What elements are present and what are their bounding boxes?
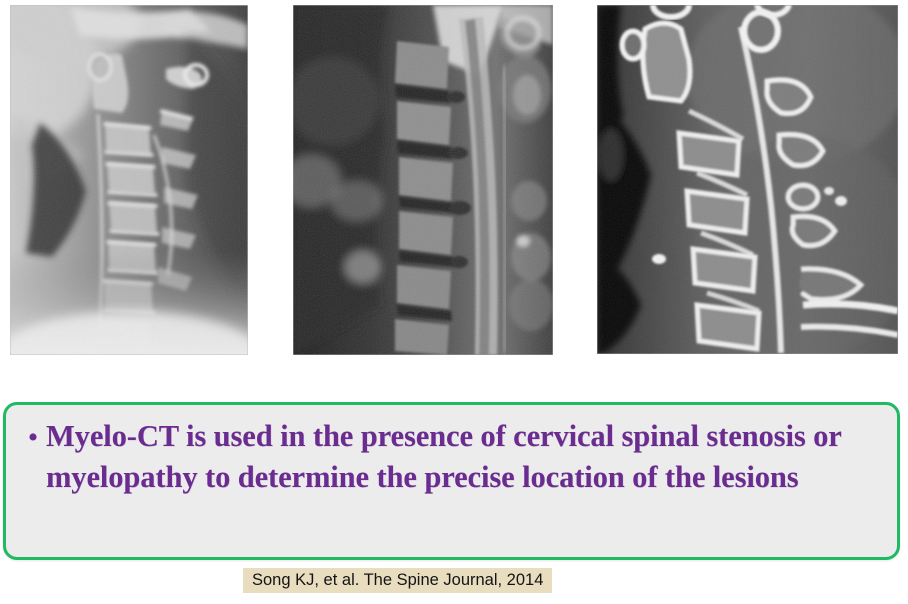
key-point-callout-box: • Myelo-CT is used in the presence of ce… [3, 402, 900, 560]
bullet-marker-icon: • [20, 416, 46, 460]
scan-image-strip [0, 0, 908, 360]
citation-text: Song KJ, et al. The Spine Journal, 2014 [252, 571, 543, 590]
citation-label: Song KJ, et al. The Spine Journal, 2014 [243, 568, 552, 593]
sagittal-cervical-mri [293, 5, 553, 355]
sagittal-cervical-myelo-ct [597, 5, 898, 354]
lateral-cervical-spine-radiograph [10, 5, 248, 355]
callout-body-text: Myelo-CT is used in the presence of cerv… [46, 416, 876, 498]
bullet-item: • Myelo-CT is used in the presence of ce… [20, 416, 887, 498]
